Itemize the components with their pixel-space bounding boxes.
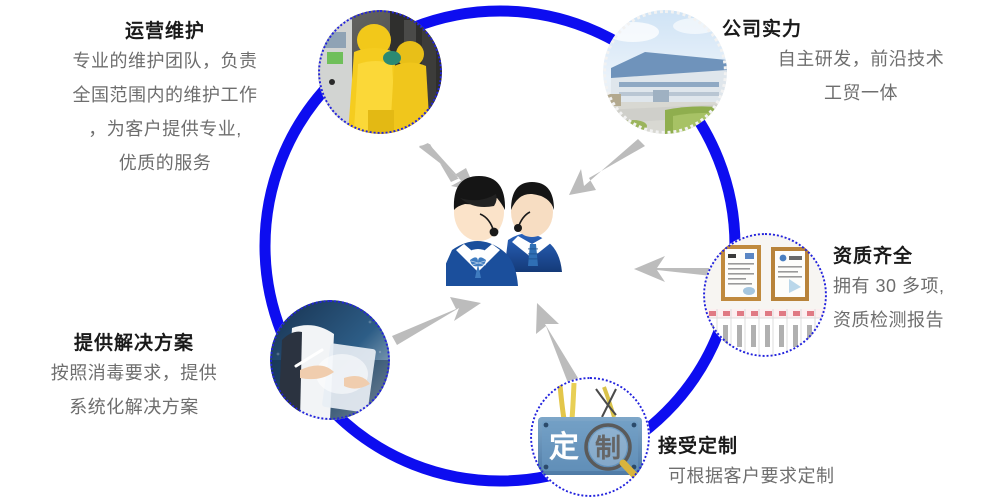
arrow-from-full-qualifications [634, 256, 712, 282]
desc-operation-maintenance-line-4: 优质的服务 [10, 146, 320, 180]
title-full-qualifications: 资质齐全 [833, 245, 1000, 269]
desc-operation-maintenance-line-1: 专业的维护团队，负责 [10, 44, 320, 78]
photo-factory-building-exterior [603, 10, 727, 134]
title-company-strength: 公司实力 [722, 18, 1000, 42]
text-block-provide-solutions: 提供解决方案 按照消毒要求，提供 系统化解决方案 [0, 332, 268, 424]
photo-businessman-holding-tablet [270, 300, 390, 420]
node-photo-full-qualifications[interactable] [703, 233, 827, 357]
arrow-from-company-strength [569, 139, 645, 195]
node-photo-accept-customization[interactable]: 定 制 [530, 377, 650, 497]
desc-provide-solutions-line-1: 按照消毒要求，提供 [0, 356, 268, 390]
desc-operation-maintenance-line-3: ，为客户提供专业, [10, 112, 320, 146]
arrow-from-accept-customization [536, 303, 578, 383]
node-photo-operation-maintenance[interactable] [318, 10, 442, 134]
title-accept-customization: 接受定制 [658, 435, 1000, 459]
title-provide-solutions: 提供解决方案 [0, 332, 268, 356]
desc-accept-customization-line-1: 可根据客户要求定制 [668, 459, 1000, 493]
title-operation-maintenance: 运营维护 [10, 20, 320, 44]
text-block-operation-maintenance: 运营维护 专业的维护团队，负责 全国范围内的维护工作 ，为客户提供专业, 优质的… [10, 20, 320, 180]
photo-framed-certificates-on-wall [703, 233, 827, 357]
center-illustration-customer-service-team [446, 140, 566, 300]
plate-char-ding: 定 [549, 430, 579, 464]
photo-workers-in-yellow-hazmat-suits [318, 10, 442, 134]
desc-provide-solutions-line-2: 系统化解决方案 [0, 390, 268, 424]
infographic-canvas: 定 制 [0, 0, 1000, 500]
desc-full-qualifications-line-2: 资质检测报告 [833, 303, 1000, 337]
desc-company-strength-line-1: 自主研发，前沿技术 [722, 42, 1000, 76]
person-male [504, 182, 562, 272]
arrow-from-provide-solutions [392, 297, 481, 345]
photo-custom-plate-with-magnifier: 定 制 [530, 377, 650, 497]
desc-company-strength-line-2: 工贸一体 [722, 76, 1000, 110]
text-block-accept-customization: 接受定制 可根据客户要求定制 [658, 435, 1000, 493]
node-photo-provide-solutions[interactable] [270, 300, 390, 420]
text-block-full-qualifications: 资质齐全 拥有 30 多项, 资质检测报告 [833, 245, 1000, 337]
desc-operation-maintenance-line-2: 全国范围内的维护工作 [10, 78, 320, 112]
desc-full-qualifications-line-1: 拥有 30 多项, [833, 269, 1000, 303]
node-photo-company-strength[interactable] [603, 10, 727, 134]
text-block-company-strength: 公司实力 自主研发，前沿技术 工贸一体 [722, 18, 1000, 110]
person-female [446, 176, 518, 286]
